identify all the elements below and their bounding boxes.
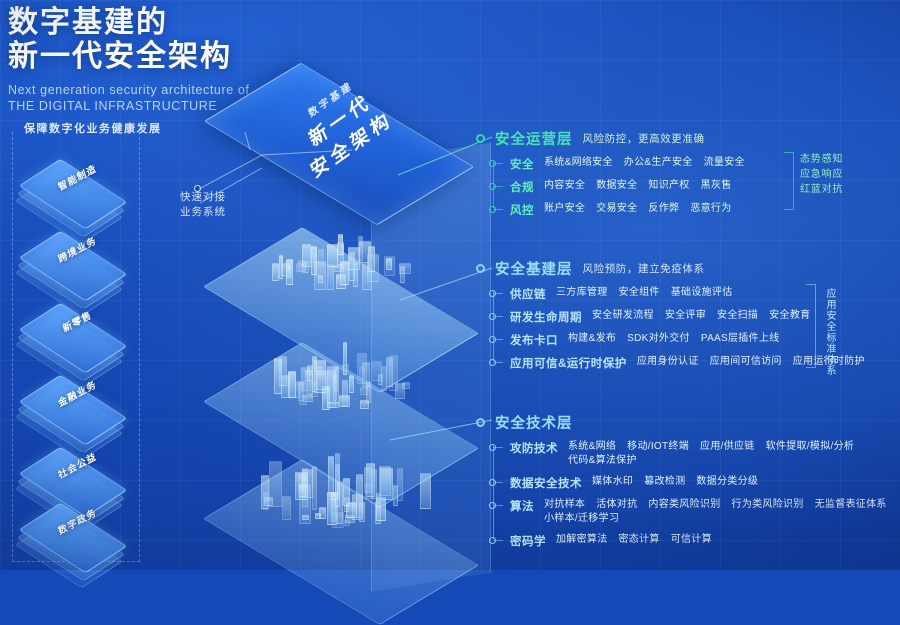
row-items: 账户安全交易安全反作弊恶意行为 (544, 202, 743, 216)
layer-bullet-icon (476, 134, 485, 143)
city-block (359, 241, 371, 263)
layer-item: 内容类风险识别 (648, 499, 720, 510)
title-line-1: 数字基建的 (8, 6, 428, 40)
layer-item: 流量安全 (704, 157, 745, 168)
city-block (384, 256, 394, 277)
business-card: 智能制造 (28, 150, 124, 220)
row-category: 供应链 (510, 286, 546, 302)
business-card: 跨境业务 (28, 222, 124, 292)
row-items: 系统&网络移动/IOT终端应用/供应链软件提取/模拟/分析代码&算法保护 (568, 440, 900, 468)
layer-item: 安全扫描 (717, 310, 758, 321)
row-category: 合规 (510, 179, 534, 195)
row-connector (493, 482, 503, 483)
banner-card: 数字基建 新一代 安全架构 (235, 78, 445, 198)
layer-item: 安全组件 (619, 287, 660, 298)
layer-item: 加解密算法 (556, 534, 608, 545)
row-items: 媒体水印篡改检测数据分类分级 (592, 475, 769, 489)
row-connector (493, 186, 503, 187)
row-connector (493, 447, 503, 448)
row-connector (493, 293, 503, 294)
layer-item: 密态计算 (619, 534, 660, 545)
poster-background: 数字基建的 新一代安全架构 Next generation security a… (0, 0, 900, 570)
layer-item: 交易安全 (596, 203, 637, 214)
layer-item: 应用间可信访问 (710, 356, 782, 367)
row-connector (493, 339, 503, 340)
business-card: 数字政务 (28, 494, 124, 564)
isometric-architecture-stack: 数字基建 新一代 安全架构 (175, 60, 505, 560)
layer-item: 办公&生产安全 (624, 157, 693, 168)
row-connector (493, 540, 503, 541)
layer-item: 系统&网络 (568, 441, 616, 452)
layer-row: 风控账户安全交易安全反作弊恶意行为 (510, 202, 756, 218)
layer-item: 移动/IOT终端 (627, 441, 689, 452)
row-connector (493, 163, 503, 164)
layer-item: 数据分类分级 (696, 476, 758, 487)
layer-item: 黑灰售 (701, 180, 732, 191)
row-category: 安全 (510, 156, 534, 172)
layer-item: 安全研发流程 (592, 310, 654, 321)
layer-panel-security-technology: 安全技术层攻防技术系统&网络移动/IOT终端应用/供应链软件提取/模拟/分析代码… (492, 412, 900, 556)
layer-item: 对抗样本 (544, 499, 585, 510)
row-category: 研发生命周期 (510, 309, 582, 325)
layer-item: 无监督表征体系 (815, 499, 887, 510)
layer-item: 应用/供应链 (700, 441, 755, 452)
row-items: 内容安全数据安全知识产权黑灰售 (544, 179, 743, 193)
layer-item: 安全教育 (769, 310, 810, 321)
layer-item: 知识产权 (648, 180, 689, 191)
layer-item: 行为类风险识别 (732, 499, 804, 510)
layer-row: 研发生命周期安全研发流程安全评审安全扫描安全教育 (510, 309, 876, 325)
row-items: 三方库管理安全组件基础设施评估 (556, 286, 744, 300)
bracket-label-line: 态势感知 (800, 152, 864, 167)
layer-item: PAAS层插件上线 (701, 333, 780, 344)
layer-row: 合规内容安全数据安全知识产权黑灰售 (510, 179, 756, 195)
layer-row: 供应链三方库管理安全组件基础设施评估 (510, 286, 876, 302)
layer-item: 数据安全 (596, 180, 637, 191)
callout-quick-connect: 快速对接 业务系统 (160, 190, 246, 220)
business-card: 新零售 (28, 294, 124, 364)
city-block (399, 263, 411, 274)
row-connector (493, 316, 503, 317)
layer-item: 代码&算法保护 (568, 455, 637, 466)
layer-item: 软件提取/模拟/分析 (766, 441, 855, 452)
row-category: 数据安全技术 (510, 475, 582, 491)
layer-bullet-icon (476, 418, 485, 427)
row-connector (493, 505, 503, 506)
row-items: 加解密算法密态计算可信计算 (556, 533, 723, 547)
layer-item: 内容安全 (544, 180, 585, 191)
layer-row: 安全系统&网络安全办公&生产安全流量安全 (510, 156, 756, 172)
layer-subtitle: 风险预防，建立免疫体系 (583, 261, 705, 276)
layer-title: 安全基建层 (495, 258, 573, 279)
layer-item: 应用身份认证 (637, 356, 699, 367)
layer-item: 篡改检测 (644, 476, 685, 487)
row-items: 构建&发布SDK对外交付PAAS层插件上线 (568, 332, 790, 346)
layer-spine (493, 292, 494, 361)
row-items: 系统&网络安全办公&生产安全流量安全 (544, 156, 756, 170)
layer-subtitle: 风险防控，更高效更准确 (583, 131, 705, 146)
row-items: 对抗样本活体对抗内容类风险识别行为类风险识别无监督表征体系小样本/迁移学习 (544, 498, 900, 526)
layer-item: 安全评审 (665, 310, 706, 321)
business-card: 金融业务 (28, 366, 124, 436)
row-connector (493, 362, 503, 363)
bracket-label-line: 应急响应 (800, 167, 864, 182)
callout-line-1: 快速对接 (160, 190, 246, 205)
layer-item: 账户安全 (544, 203, 585, 214)
layer-row: 攻防技术系统&网络移动/IOT终端应用/供应链软件提取/模拟/分析代码&算法保护 (510, 440, 900, 468)
callout-line-2: 业务系统 (160, 205, 246, 220)
layer-item: 构建&发布 (568, 333, 616, 344)
layer-item: 系统&网络安全 (544, 157, 613, 168)
bracket-label-line: 红蓝对抗 (800, 182, 864, 197)
layer-item: 三方库管理 (556, 287, 608, 298)
layer-panel-security-operations: 安全运营层风险防控，更高效更准确安全系统&网络安全办公&生产安全流量安全合规内容… (492, 128, 756, 225)
row-category: 应用可信&运行时保护 (510, 355, 627, 371)
layer-title: 安全运营层 (495, 128, 573, 149)
layer-row: 算法对抗样本活体对抗内容类风险识别行为类风险识别无监督表征体系小样本/迁移学习 (510, 498, 900, 526)
layer-row: 应用可信&运行时保护应用身份认证应用间可信访问应用运行时防护 (510, 355, 876, 371)
layer-item: 小样本/迁移学习 (544, 513, 619, 524)
row-category: 算法 (510, 498, 534, 514)
layer-row: 数据安全技术媒体水印篡改检测数据分类分级 (510, 475, 900, 491)
row-category: 密码学 (510, 533, 546, 549)
layer-panel-security-infrastructure: 安全基建层风险预防，建立免疫体系供应链三方库管理安全组件基础设施评估研发生命周期… (492, 258, 876, 378)
row-category: 攻防技术 (510, 440, 558, 456)
layer-item: 活体对抗 (596, 499, 637, 510)
layer-item: 恶意行为 (690, 203, 731, 214)
layer-item: SDK对外交付 (627, 333, 690, 344)
layer-item: 反作弊 (648, 203, 679, 214)
bracket-label-line: 应用安全标准体系 (822, 288, 837, 376)
row-category: 风控 (510, 202, 534, 218)
layer-row: 密码学加解密算法密态计算可信计算 (510, 533, 900, 549)
city-block (386, 258, 392, 269)
layer-bracket-label: 态势感知应急响应红蓝对抗 (800, 152, 864, 197)
layer-item: 基础设施评估 (671, 287, 733, 298)
row-connector (493, 209, 503, 210)
layer-bracket-label: 应用安全标准体系 (822, 288, 900, 376)
row-items: 安全研发流程安全评审安全扫描安全教育 (592, 309, 821, 323)
layer-item: 媒体水印 (592, 476, 633, 487)
layer-bracket (806, 284, 816, 368)
city-block (358, 236, 363, 261)
layer-bracket (784, 152, 794, 210)
row-category: 发布卡口 (510, 332, 558, 348)
layer-bullet-icon (476, 264, 485, 273)
layer-spine (493, 446, 494, 539)
layer-item: 可信计算 (671, 534, 712, 545)
layer-row: 发布卡口构建&发布SDK对外交付PAAS层插件上线 (510, 332, 876, 348)
city-block (400, 266, 405, 283)
layer-title: 安全技术层 (495, 412, 573, 433)
stack-tier-operations (189, 220, 489, 390)
